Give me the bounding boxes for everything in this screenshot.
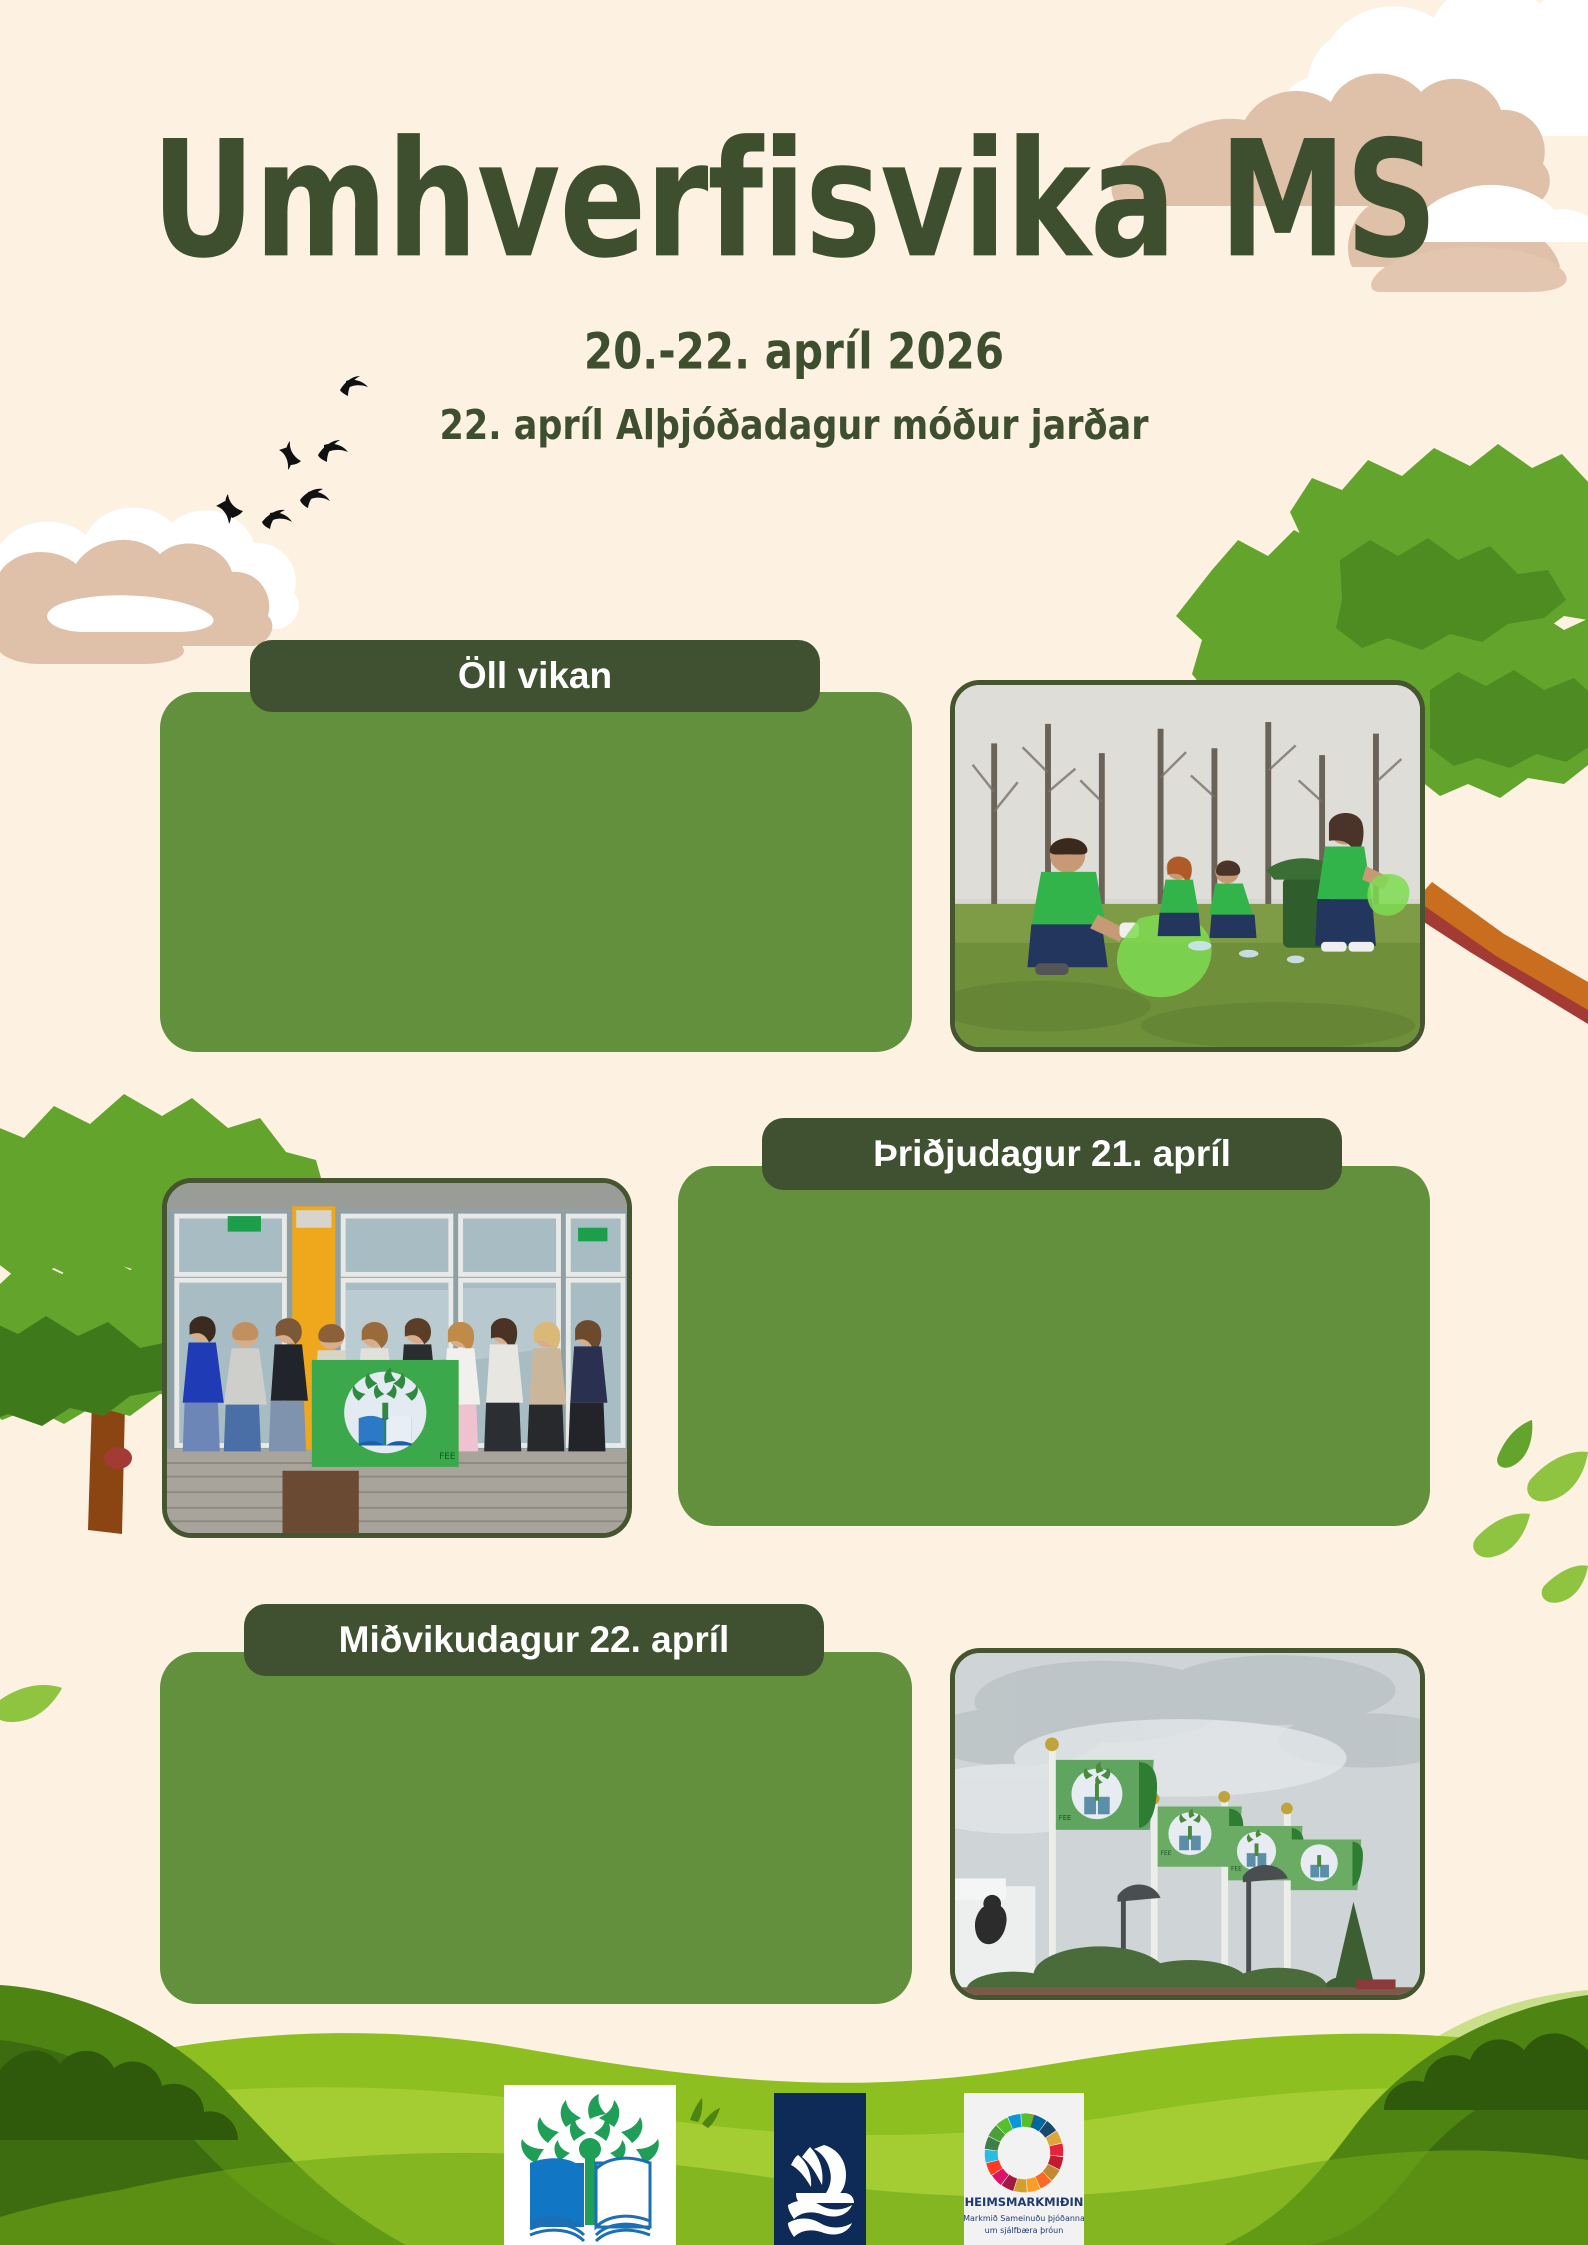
card-all-week-header-label: Öll vikan — [458, 655, 612, 697]
poster-header: Umhverfisvika MS 20.-22. apríl 2026 22. … — [0, 120, 1588, 446]
green-flag-1: FEE — [1056, 1760, 1157, 1830]
green-flags-flagpoles-photo: FEE FEE FEE — [950, 1648, 1425, 2000]
svg-text:FEE: FEE — [1161, 1851, 1172, 1857]
sdg-logo-line-1: Markmið Sameinuðu þjóðanna — [964, 2213, 1084, 2223]
card-all-week-header: Öll vikan — [250, 640, 820, 712]
sdg-logo-title: HEIMSMARKMIÐIN — [965, 2195, 1084, 2209]
card-tuesday-header: Þriðjudagur 21. apríl — [762, 1118, 1342, 1190]
navy-swan-logo — [774, 2093, 866, 2245]
card-all-week — [160, 692, 912, 1052]
green-flag-4 — [1291, 1840, 1363, 1891]
poster-subtitle: 22. apríl Alþjóðadagur móður jarðar — [0, 403, 1588, 449]
card-wednesday-header: Miðvikudagur 22. apríl — [244, 1604, 824, 1676]
svg-text:FEE: FEE — [1059, 1814, 1072, 1822]
logo-row: HEIMSMARKMIÐIN Markmið Sameinuðu þjóðann… — [0, 2055, 1588, 2245]
leaves-left-bottom — [0, 1685, 62, 1722]
svg-text:FEE: FEE — [439, 1452, 455, 1462]
heimsmarkmidin-sdg-logo: HEIMSMARKMIÐIN Markmið Sameinuðu þjóðann… — [964, 2093, 1084, 2245]
cloud-left — [0, 508, 299, 664]
poster-canvas: Umhverfisvika MS 20.-22. apríl 2026 22. … — [0, 0, 1588, 2245]
students-green-flag-photo: FEE — [162, 1178, 632, 1538]
card-tuesday-header-label: Þriðjudagur 21. apríl — [873, 1133, 1231, 1175]
page-title: Umhverfisvika MS — [24, 120, 1564, 281]
card-wednesday-header-label: Miðvikudagur 22. apríl — [339, 1619, 730, 1661]
green-flag-in-photo: FEE — [312, 1360, 459, 1467]
card-wednesday — [160, 1652, 912, 2004]
leaves-right — [1473, 1420, 1588, 1603]
svg-text:FEE: FEE — [1231, 1867, 1242, 1873]
card-tuesday — [678, 1166, 1430, 1526]
green-flag-eco-schools-logo — [504, 2085, 676, 2245]
poster-dates: 20.-22. apríl 2026 — [0, 323, 1588, 381]
volunteers-picking-litter-photo — [950, 680, 1425, 1052]
sdg-logo-line-2: um sjálfbæra þróun — [985, 2225, 1064, 2235]
